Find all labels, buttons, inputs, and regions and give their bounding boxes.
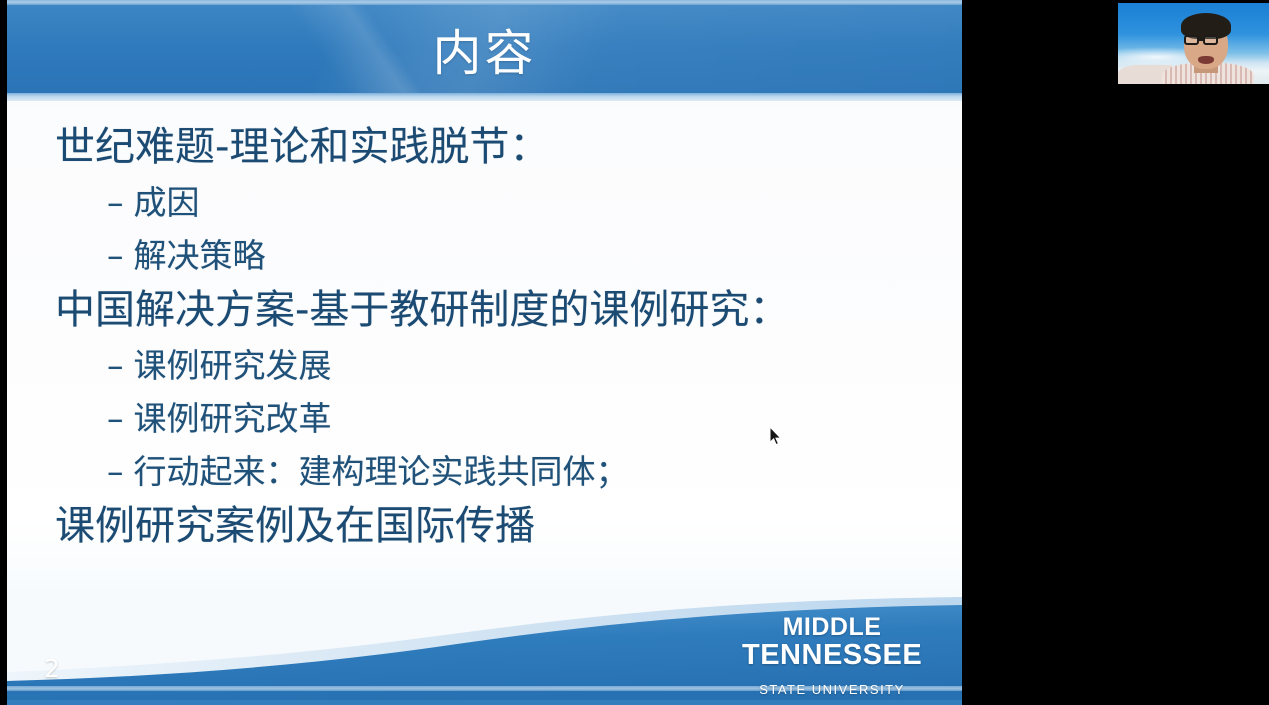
- dash-bullet-icon: –: [107, 399, 124, 438]
- presenter-mouth: [1198, 56, 1214, 64]
- presenter-glasses-left-lens: [1184, 35, 1199, 45]
- bullet-line-8: 课例研究案例及在国际传播: [55, 498, 962, 555]
- presenter-glasses-bridge: [1199, 39, 1203, 41]
- mtsu-logo-line-1: MIDDLE: [742, 615, 922, 640]
- bullet-line-2: –成因: [107, 176, 962, 229]
- bullet-line-4: 中国解决方案-基于教研制度的课例研究：: [55, 282, 962, 339]
- dash-bullet-icon: –: [107, 452, 124, 491]
- presentation-slide[interactable]: 内容 世纪难题-理论和实践脱节： –成因 –解决策略 中国解决方案-基于教研制度…: [7, 0, 962, 705]
- right-black-region: [962, 0, 1269, 705]
- dash-bullet-icon: –: [107, 183, 124, 222]
- slide-header-banner: 内容: [7, 0, 962, 101]
- slide-title: 内容: [7, 5, 962, 98]
- presenter-figure: [1170, 13, 1246, 84]
- presenter-glasses-right-lens: [1203, 35, 1218, 45]
- bullet-line-7-text: 行动起来：建构理论实践共同体；: [134, 452, 629, 491]
- presenter-video-thumbnail[interactable]: [1118, 3, 1269, 84]
- mtsu-logo-line-2: TENNESSEE: [742, 641, 922, 670]
- bullet-line-5-text: 课例研究发展: [134, 346, 332, 385]
- bullet-line-2-text: 成因: [134, 183, 200, 222]
- bullet-line-3-text: 解决策略: [134, 236, 266, 275]
- slide-footer-wave: 2 MIDDLE TENNESSEE STATE UNIVERSITY: [7, 580, 962, 705]
- mtsu-logo: MIDDLE TENNESSEE STATE UNIVERSITY: [742, 615, 922, 696]
- bullet-line-6: –课例研究改革: [107, 392, 962, 445]
- left-black-gutter: [0, 0, 7, 705]
- bullet-line-6-text: 课例研究改革: [134, 399, 332, 438]
- bullet-line-3: –解决策略: [107, 229, 962, 282]
- screen-share-stage: 内容 世纪难题-理论和实践脱节： –成因 –解决策略 中国解决方案-基于教研制度…: [0, 0, 1269, 705]
- bullet-line-5: –课例研究发展: [107, 339, 962, 392]
- slide-body-content: 世纪难题-理论和实践脱节： –成因 –解决策略 中国解决方案-基于教研制度的课例…: [7, 101, 962, 581]
- dash-bullet-icon: –: [107, 346, 124, 385]
- bullet-line-7: –行动起来：建构理论实践共同体；: [107, 445, 962, 498]
- slide-page-number: 2: [44, 654, 60, 683]
- dash-bullet-icon: –: [107, 236, 124, 275]
- mtsu-logo-swoosh-icon: [748, 673, 916, 680]
- bullet-line-1: 世纪难题-理论和实践脱节：: [55, 119, 962, 176]
